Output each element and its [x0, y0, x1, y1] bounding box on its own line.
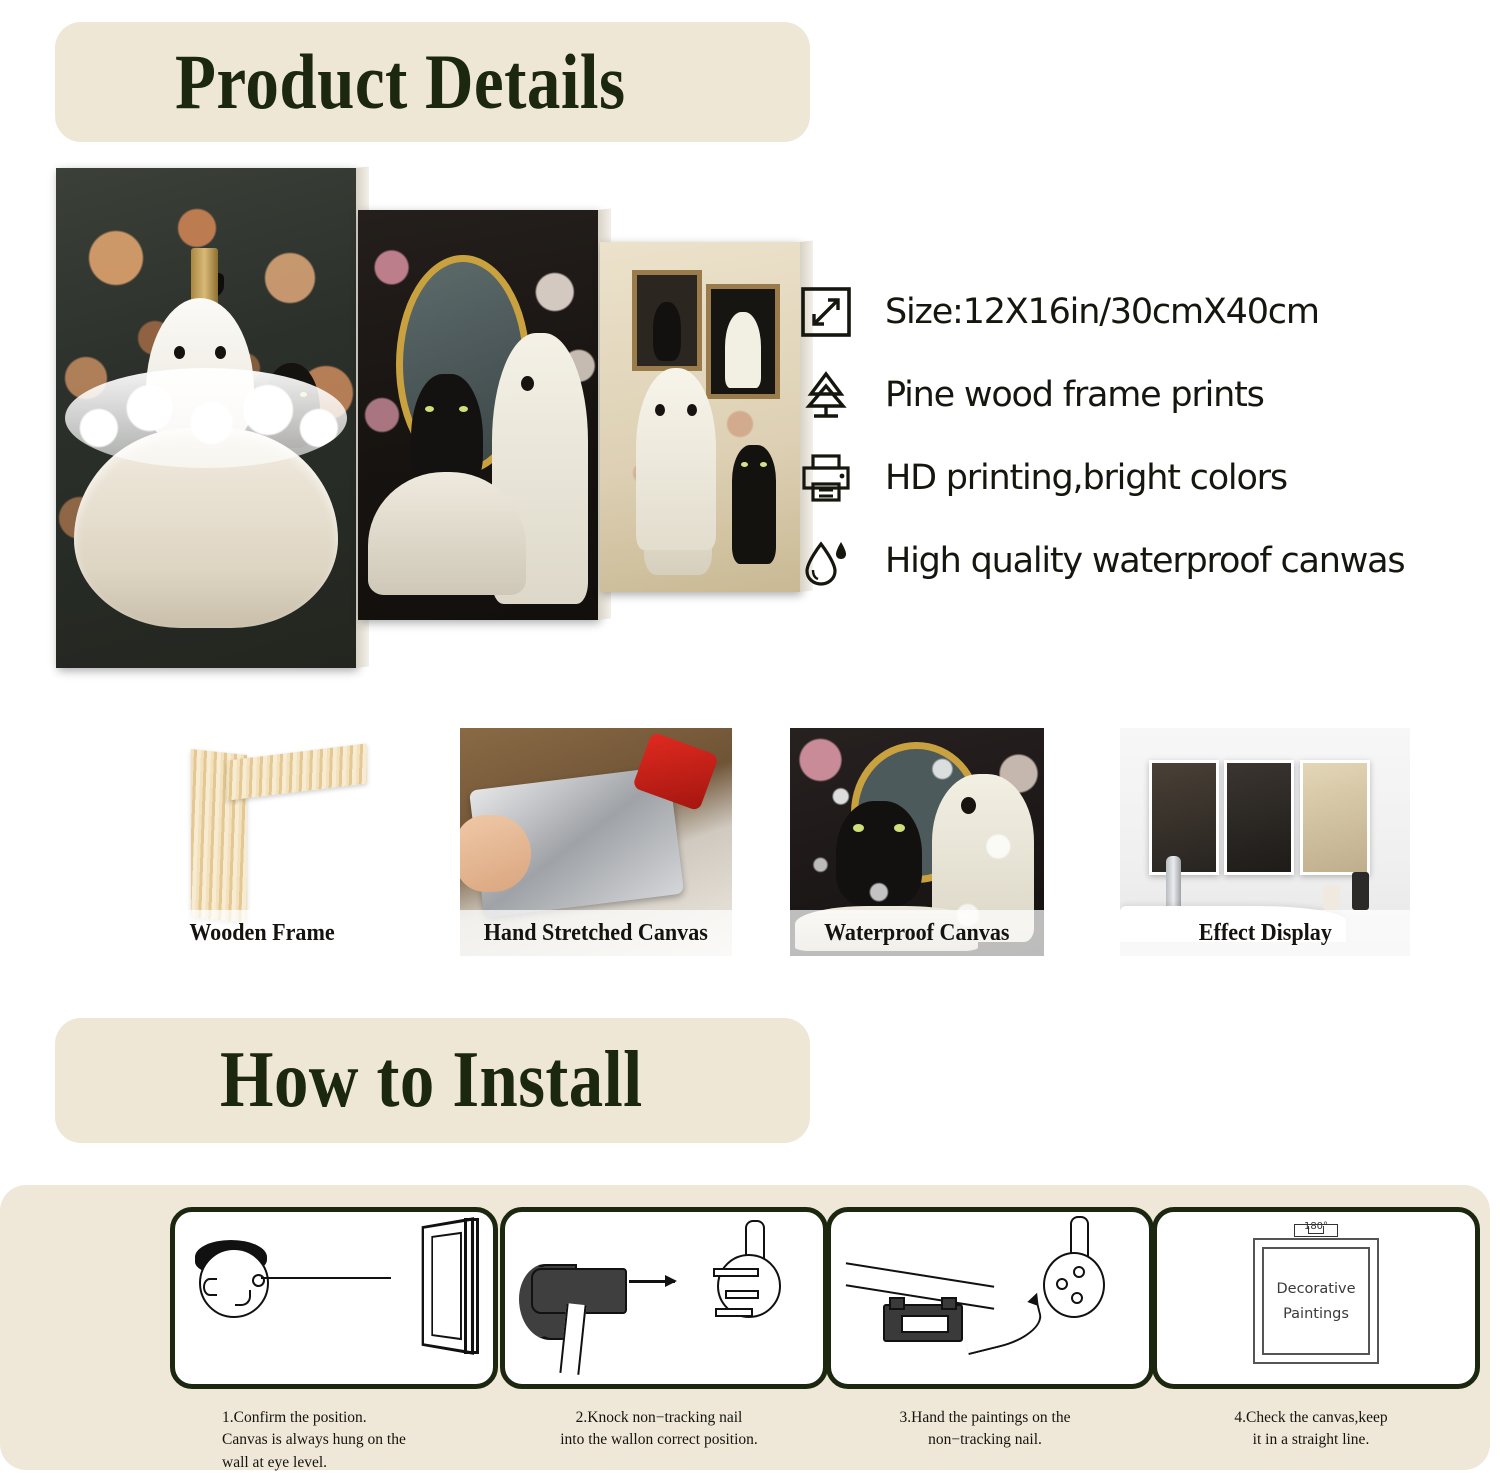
hung-canvas-3	[1300, 760, 1370, 875]
thumbnail-caption-bar: Wooden Frame	[135, 910, 389, 956]
install-step-4-caption: 4.Check the canvas,keep it in a straight…	[1152, 1407, 1470, 1452]
page-title: Product Details	[175, 37, 626, 127]
thumbnail-caption-bar: Hand Stretched Canvas	[460, 910, 732, 956]
thumbnail-waterproof-canvas[interactable]: Waterproof Canvas	[790, 728, 1044, 956]
ghost-figure	[636, 368, 716, 550]
install-diagram-eye-level	[170, 1207, 498, 1389]
sawtooth-hanger-icon	[883, 1304, 963, 1342]
printer-icon	[795, 447, 857, 509]
level-angle-label: 180°	[1304, 1221, 1328, 1232]
feature-list: Size:12X16in/30cmX40cm Pine wood frame p…	[795, 270, 1475, 602]
framed-cat-portrait	[632, 270, 702, 371]
spirit-level-icon: 180°	[1294, 1224, 1338, 1237]
thumbnail-caption-bar: Waterproof Canvas	[790, 910, 1044, 956]
hung-canvas-1	[1149, 760, 1219, 875]
curved-arrow-icon	[960, 1299, 1047, 1355]
product-details-banner: Product Details	[55, 22, 810, 142]
wall-hook-icon	[1043, 1252, 1105, 1318]
painting-label-line2: Paintings	[1283, 1306, 1349, 1322]
jar	[1323, 885, 1340, 910]
artwork-ghost-in-bathtub	[56, 168, 356, 668]
install-step-2: 2.Knock non−tracking nail into the wallo…	[500, 1207, 818, 1452]
ear-icon	[203, 1278, 217, 1296]
faucet	[1166, 856, 1181, 906]
thumbnail-caption: Hand Stretched Canvas	[484, 920, 708, 947]
nail-icon	[715, 1308, 753, 1317]
framed-painting-icon: Decorative Paintings	[1253, 1238, 1379, 1364]
canvas-panel-ghost-on-toilet[interactable]	[600, 242, 800, 592]
feature-row-waterproof: High quality waterproof canwas	[795, 519, 1475, 602]
black-cat	[732, 445, 776, 564]
install-step-1-caption: 1.Confirm the position. Canvas is always…	[170, 1407, 488, 1474]
canvas-panel-ghost-brushing-cat-teeth[interactable]	[358, 210, 598, 620]
feature-label-waterproof: High quality waterproof canwas	[885, 541, 1404, 581]
thumbnail-caption-bar: Effect Display	[1120, 910, 1410, 956]
soap-bottle	[1352, 872, 1369, 911]
sight-line	[261, 1277, 391, 1279]
thumbnail-caption: Effect Display	[1198, 920, 1331, 947]
install-step-2-caption: 2.Knock non−tracking nail into the wallo…	[500, 1407, 818, 1452]
feature-row-size: Size:12X16in/30cmX40cm	[795, 270, 1475, 353]
thumbnail-wooden-frame[interactable]: Wooden Frame	[135, 728, 389, 956]
feature-label-size: Size:12X16in/30cmX40cm	[885, 292, 1319, 332]
pine-tree-icon	[795, 364, 857, 426]
painting-label-line1: Decorative	[1277, 1281, 1356, 1297]
thumbnail-caption: Wooden Frame	[189, 920, 334, 947]
thumbnail-caption: Waterproof Canvas	[824, 920, 1009, 947]
detail-thumbnails: Wooden Frame Hand Stretched Canvas Water…	[0, 728, 1500, 986]
water-droplet-icon	[795, 530, 857, 592]
artwork-ghost-on-toilet	[600, 242, 800, 592]
soap-bubbles	[65, 368, 347, 468]
how-to-install-banner: How to Install	[55, 1018, 810, 1143]
eye-icon	[252, 1274, 265, 1287]
canvas-panel-ghost-in-bathtub[interactable]	[56, 168, 356, 668]
thumbnail-effect-display[interactable]: Effect Display	[1120, 728, 1410, 956]
install-step-3: 3.Hand the paintings on the non−tracking…	[826, 1207, 1144, 1452]
feature-row-frame: Pine wood frame prints	[795, 353, 1475, 436]
install-step-4: 180° Decorative Paintings 4.Check the ca…	[1152, 1207, 1470, 1452]
feature-row-printing: HD printing,bright colors	[795, 436, 1475, 519]
nail-icon	[713, 1268, 759, 1277]
hung-canvas-2	[1224, 760, 1294, 875]
install-diagram-check-level: 180° Decorative Paintings	[1152, 1207, 1480, 1389]
install-step-3-caption: 3.Hand the paintings on the non−tracking…	[826, 1407, 1144, 1452]
framed-ghost-portrait	[706, 284, 780, 399]
canvas-back-line	[846, 1262, 994, 1287]
product-hero-images	[40, 160, 810, 705]
install-steps-panel: 1.Confirm the position. Canvas is always…	[0, 1185, 1490, 1470]
artwork-ghost-brushing-cat-teeth	[358, 210, 598, 620]
thumbnail-hand-stretched-canvas[interactable]: Hand Stretched Canvas	[460, 728, 732, 956]
resize-arrows-icon	[795, 281, 857, 343]
arrow-icon	[629, 1280, 675, 1283]
install-step-1: 1.Confirm the position. Canvas is always…	[170, 1207, 488, 1474]
canvas-frame-icon	[422, 1217, 474, 1355]
nail-icon	[725, 1290, 759, 1299]
install-title: How to Install	[220, 1035, 643, 1126]
feature-label-printing: HD printing,bright colors	[885, 458, 1287, 498]
install-diagram-hang-canvas	[826, 1207, 1154, 1389]
feature-label-frame: Pine wood frame prints	[885, 375, 1264, 415]
install-diagram-hammer-nail	[500, 1207, 828, 1389]
